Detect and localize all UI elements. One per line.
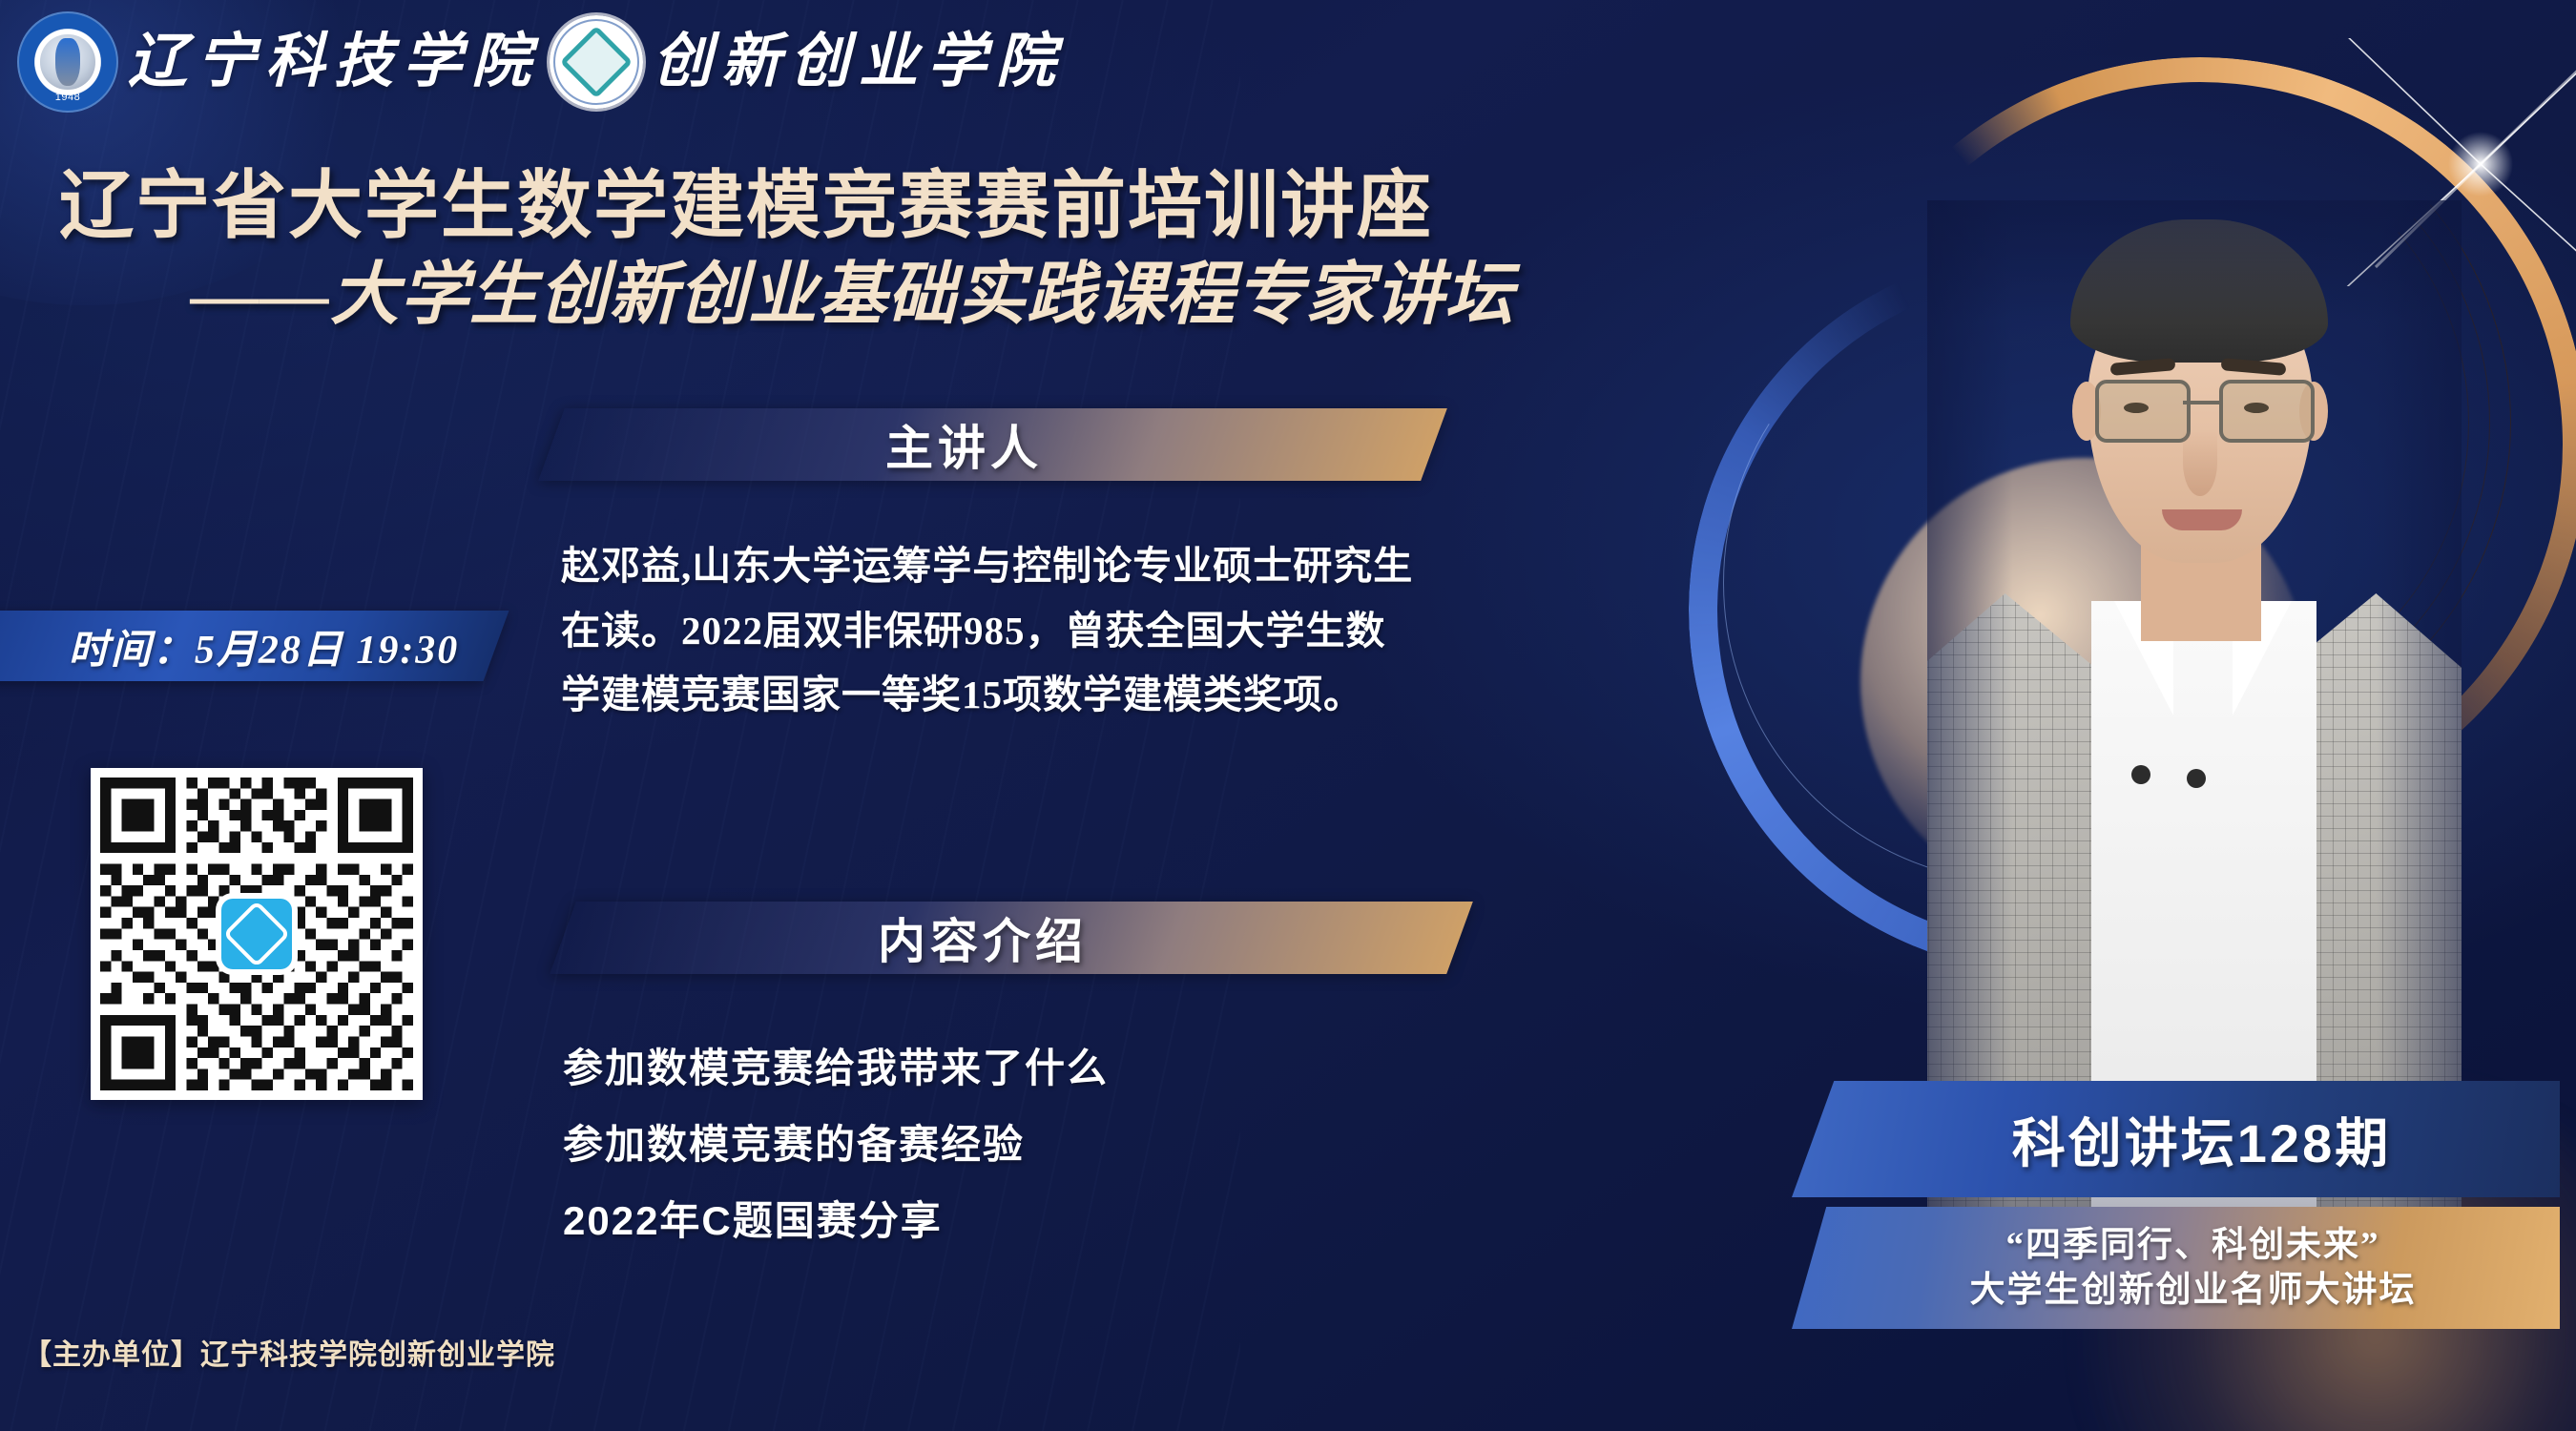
mouth — [2162, 509, 2242, 530]
hair — [2070, 219, 2328, 363]
title-block: 辽宁省大学生数学建模竞赛赛前培训讲座 ——大学生创新创业基础实践课程专家讲坛 — [0, 167, 1908, 333]
organizer-footer: 【主办单位】辽宁科技学院创新创业学院 — [23, 1331, 555, 1373]
content-list: 参加数模竞赛给我带来了什么 参加数模竞赛的备赛经验 2022年C题国赛分享 — [563, 1030, 1612, 1258]
content-section-label: 内容介绍 — [878, 903, 1145, 972]
list-item: 参加数模竞赛给我带来了什么 — [563, 1030, 1612, 1107]
content-section-banner: 内容介绍 — [550, 902, 1473, 974]
wechat-qr-code[interactable] — [91, 768, 423, 1100]
poster-title-line2: ——大学生创新创业基础实践课程专家讲坛 — [0, 258, 1908, 333]
college-crest-icon — [550, 15, 643, 109]
jacket-button — [2131, 765, 2150, 784]
nose — [2183, 429, 2217, 496]
list-item: 2022年C题国赛分享 — [563, 1183, 1612, 1259]
college-name: 创新创业学院 — [653, 32, 1065, 92]
crest-year: 1948 — [17, 92, 118, 103]
slogan-line-1: “四季同行、科创未来” — [1972, 1223, 2380, 1268]
poster-root: 1948 辽宁科技学院 创新创业学院 辽宁省大学生数学建模竞赛赛前培训讲座 ——… — [0, 0, 2576, 1431]
speaker-portrait-photo — [1927, 200, 2462, 1212]
poster-title-line1: 辽宁省大学生数学建模竞赛赛前培训讲座 — [0, 167, 1908, 246]
university-crest-icon: 1948 — [17, 11, 118, 113]
speaker-section-label: 主讲人 — [885, 410, 1100, 479]
speaker-bio-line: 在读。2022届双非保研985，曾获全国大学生数 — [561, 599, 1620, 664]
episode-banner: 科创讲坛128期 — [1792, 1081, 2560, 1197]
time-badge-text: 时间：5月28日 19:30 — [0, 617, 460, 675]
speaker-bio: 赵邓益,山东大学运筹学与控制论专业硕士研究生 在读。2022届双非保研985，曾… — [561, 534, 1620, 728]
slogan-banner: “四季同行、科创未来” 大学生创新创业名师大讲坛 — [1792, 1207, 2560, 1329]
wechat-mini-program-logo-icon — [221, 899, 292, 969]
episode-label: 科创讲坛128期 — [1961, 1101, 2391, 1178]
list-item: 参加数模竞赛的备赛经验 — [563, 1107, 1612, 1183]
eyeglasses-icon — [2095, 380, 2307, 437]
speaker-section-banner: 主讲人 — [538, 408, 1447, 481]
header-logos: 1948 辽宁科技学院 创新创业学院 — [0, 0, 1353, 124]
slogan-line-2: 大学生创新创业名师大讲坛 — [1936, 1268, 2417, 1313]
jacket-button — [2187, 769, 2206, 788]
time-badge: 时间：5月28日 19:30 — [0, 611, 509, 681]
speaker-bio-line: 学建模竞赛国家一等奖15项数学建模类奖项。 — [561, 663, 1620, 728]
university-name: 辽宁科技学院 — [128, 32, 540, 92]
speaker-bio-line: 赵邓益,山东大学运筹学与控制论专业硕士研究生 — [561, 534, 1620, 599]
